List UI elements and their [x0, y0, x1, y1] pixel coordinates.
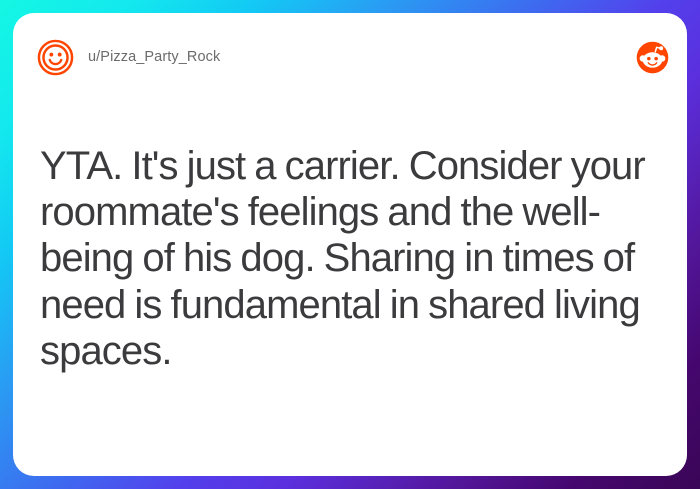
gradient-background: u/Pizza_Party_Rock YTA. It's just a carr — [0, 0, 700, 489]
username-label: u/Pizza_Party_Rock — [88, 49, 220, 65]
reddit-snoo-icon[interactable] — [636, 41, 669, 74]
smiley-face-avatar-icon[interactable] — [37, 39, 74, 76]
card-header: u/Pizza_Party_Rock — [13, 13, 687, 101]
comment-body-text: YTA. It's just a carrier. Consider your … — [40, 143, 647, 374]
reddit-comment-card: u/Pizza_Party_Rock YTA. It's just a carr — [13, 13, 687, 476]
